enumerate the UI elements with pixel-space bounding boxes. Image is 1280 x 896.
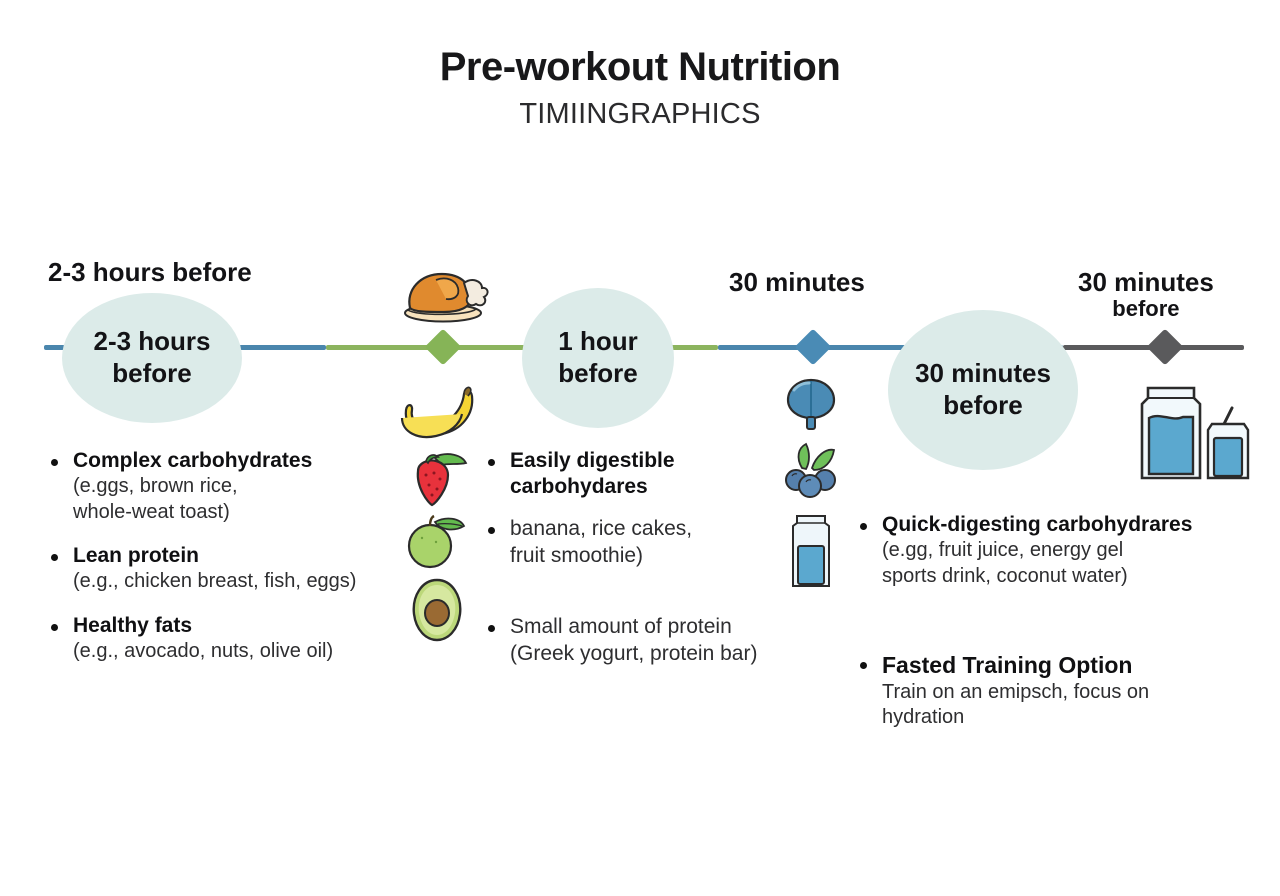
stage-3-bullet-list: Quick-digesting carbohydrares (e.gg, fru… bbox=[855, 512, 1255, 745]
stage-1-bullet-list: Complex carbohydrates (e.ggs, brown rice… bbox=[46, 448, 426, 678]
stage-1-bullet-1-detail: (e.ggs, brown rice, whole-weat toast) bbox=[73, 474, 426, 525]
stage-1-ellipse[interactable]: 2-3 hours before bbox=[62, 293, 242, 423]
page-title: Pre-workout Nutrition bbox=[0, 44, 1280, 90]
roast-chicken-icon bbox=[398, 266, 492, 324]
blueberries-icon bbox=[778, 442, 844, 500]
stage-2-ellipse-label: 1 hour before bbox=[552, 326, 643, 389]
stage-1-bullet-3-detail: (e.g., avocado, nuts, olive oil) bbox=[73, 639, 426, 665]
stage-2-ellipse[interactable]: 1 hour before bbox=[522, 288, 674, 428]
list-item: Small amount of protein (Greek yogurt, p… bbox=[483, 614, 828, 668]
stage-1-bullet-2-detail: (e.g., chicken breast, fish, eggs) bbox=[73, 569, 426, 595]
timeline-gray-diamond-marker bbox=[1147, 329, 1184, 366]
stage-2-bullet-2-detail: banana, rice cakes, fruit smoothie) bbox=[510, 516, 828, 570]
stage-3-ellipse-line2: before bbox=[943, 390, 1022, 420]
list-item: banana, rice cakes, fruit smoothie) bbox=[483, 516, 828, 570]
list-item: Fasted Training Option Train on an emips… bbox=[855, 651, 1255, 731]
strawberry-icon bbox=[404, 447, 476, 509]
stage-3-heading-text: 30 minutes bbox=[729, 267, 865, 297]
stage-1-heading-text: 2-3 hours before bbox=[48, 257, 252, 287]
water-cup-straw-icon bbox=[1198, 406, 1258, 482]
stage-2-ellipse-line2: before bbox=[558, 358, 637, 388]
stage-1-bullet-1-title: Complex carbohydrates bbox=[73, 448, 426, 474]
timeline-green-diamond-marker bbox=[425, 329, 462, 366]
page-subtitle: TIMIINGRAPHICS bbox=[0, 98, 1280, 131]
infographic-header: Pre-workout Nutrition TIMIINGRAPHICS bbox=[0, 44, 1280, 131]
green-apple-icon bbox=[402, 514, 480, 570]
stage-4-heading-text: 30 minutes bbox=[1078, 267, 1214, 297]
list-item: Easily digestible carbohydares bbox=[483, 448, 828, 500]
stage-1-ellipse-line1: 2-3 hours bbox=[93, 326, 210, 356]
plum-icon bbox=[780, 376, 842, 432]
stage-3-heading: 30 minutes bbox=[729, 268, 865, 297]
stage-1-ellipse-line2: before bbox=[112, 358, 191, 388]
stage-3-bullet-2-detail: Train on an emipsch, focus on hydration bbox=[882, 680, 1255, 731]
stage-4-heading-subtext: before bbox=[1078, 297, 1214, 322]
water-glass-icon bbox=[785, 512, 837, 592]
stage-3-ellipse-label: 30 minutes before bbox=[909, 358, 1057, 421]
stage-3-bullet-2-title: Fasted Training Option bbox=[882, 651, 1255, 680]
list-item: Complex carbohydrates (e.ggs, brown rice… bbox=[46, 448, 426, 525]
stage-2-bullet-3-detail: Small amount of protein (Greek yogurt, p… bbox=[510, 614, 828, 668]
stage-3-bullet-1-detail: (e.gg, fruit juice, energy gel sports dr… bbox=[882, 538, 1255, 589]
stage-1-bullet-3-title: Healthy fats bbox=[73, 613, 426, 639]
stage-2-bullet-list: Easily digestible carbohydares banana, r… bbox=[483, 448, 828, 682]
stage-3-ellipse[interactable]: 30 minutes before bbox=[888, 310, 1078, 470]
stage-3-ellipse-line1: 30 minutes bbox=[915, 358, 1051, 388]
stage-4-heading: 30 minutes before bbox=[1078, 268, 1214, 322]
avocado-icon bbox=[406, 576, 468, 644]
stage-1-ellipse-label: 2-3 hours before bbox=[87, 326, 216, 389]
stage-2-ellipse-line1: 1 hour bbox=[558, 326, 637, 356]
stage-1-heading: 2-3 hours before bbox=[48, 258, 252, 287]
list-item: Healthy fats (e.g., avocado, nuts, olive… bbox=[46, 613, 426, 665]
banana-icon bbox=[398, 384, 482, 440]
stage-3-bullet-1-title: Quick-digesting carbohydrares bbox=[882, 512, 1255, 538]
list-item: Quick-digesting carbohydrares (e.gg, fru… bbox=[855, 512, 1255, 589]
timeline-blue-diamond-marker bbox=[795, 329, 832, 366]
stage-1-bullet-2-title: Lean protein bbox=[73, 543, 426, 569]
list-item: Lean protein (e.g., chicken breast, fish… bbox=[46, 543, 426, 595]
